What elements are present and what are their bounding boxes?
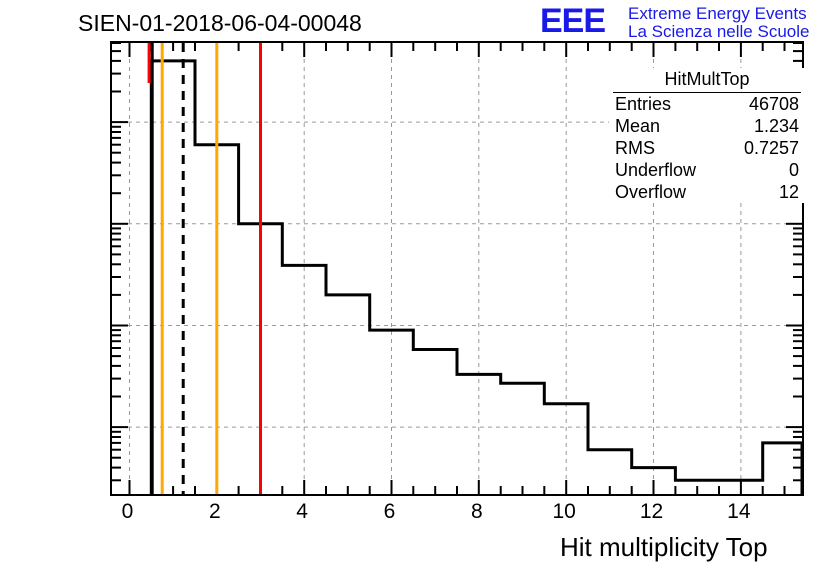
stats-row-value: 1.234 — [754, 116, 799, 137]
eee-logo-line1: Extreme Energy Events — [628, 4, 807, 24]
stats-row: Overflow12 — [609, 181, 805, 203]
x-axis-tick-label: 4 — [277, 500, 327, 524]
stats-row-value: 12 — [779, 182, 799, 203]
stats-row-label: Underflow — [615, 160, 696, 181]
page-title: SIEN-01-2018-06-04-00048 — [78, 10, 362, 37]
x-axis-tick-label: 2 — [190, 500, 240, 524]
x-axis-tick-label: 0 — [102, 500, 152, 524]
eee-logo-mark: EEE — [540, 4, 605, 38]
stats-row: Entries46708 — [609, 93, 805, 115]
stats-row: Mean1.234 — [609, 115, 805, 137]
x-axis-tick-label: 6 — [364, 500, 414, 524]
stats-row-label: RMS — [615, 138, 655, 159]
x-axis-title: Hit multiplicity Top — [560, 532, 768, 563]
stats-row-value: 46708 — [749, 94, 799, 115]
x-axis-tick-label: 12 — [627, 500, 677, 524]
stats-row-label: Mean — [615, 116, 660, 137]
stats-row-value: 0.7257 — [744, 138, 799, 159]
eee-logo: EEE EEE Extreme Energy Events La Scienza… — [540, 2, 832, 42]
stats-row: RMS0.7257 — [609, 137, 805, 159]
stats-row: Underflow0 — [609, 159, 805, 181]
stats-row-value: 0 — [789, 160, 799, 181]
x-axis-tick-label: 8 — [452, 500, 502, 524]
stats-rows: Entries46708Mean1.234RMS0.7257Underflow0… — [609, 93, 805, 203]
eee-logo-line2: La Scienza nelle Scuole — [628, 22, 809, 42]
x-axis-tick-label: 10 — [539, 500, 589, 524]
stats-box: HitMultTop Entries46708Mean1.234RMS0.725… — [609, 68, 805, 203]
x-axis-tick-label: 14 — [714, 500, 764, 524]
stats-row-label: Entries — [615, 94, 671, 115]
stats-row-label: Overflow — [615, 182, 686, 203]
stats-title: HitMultTop — [613, 68, 801, 93]
